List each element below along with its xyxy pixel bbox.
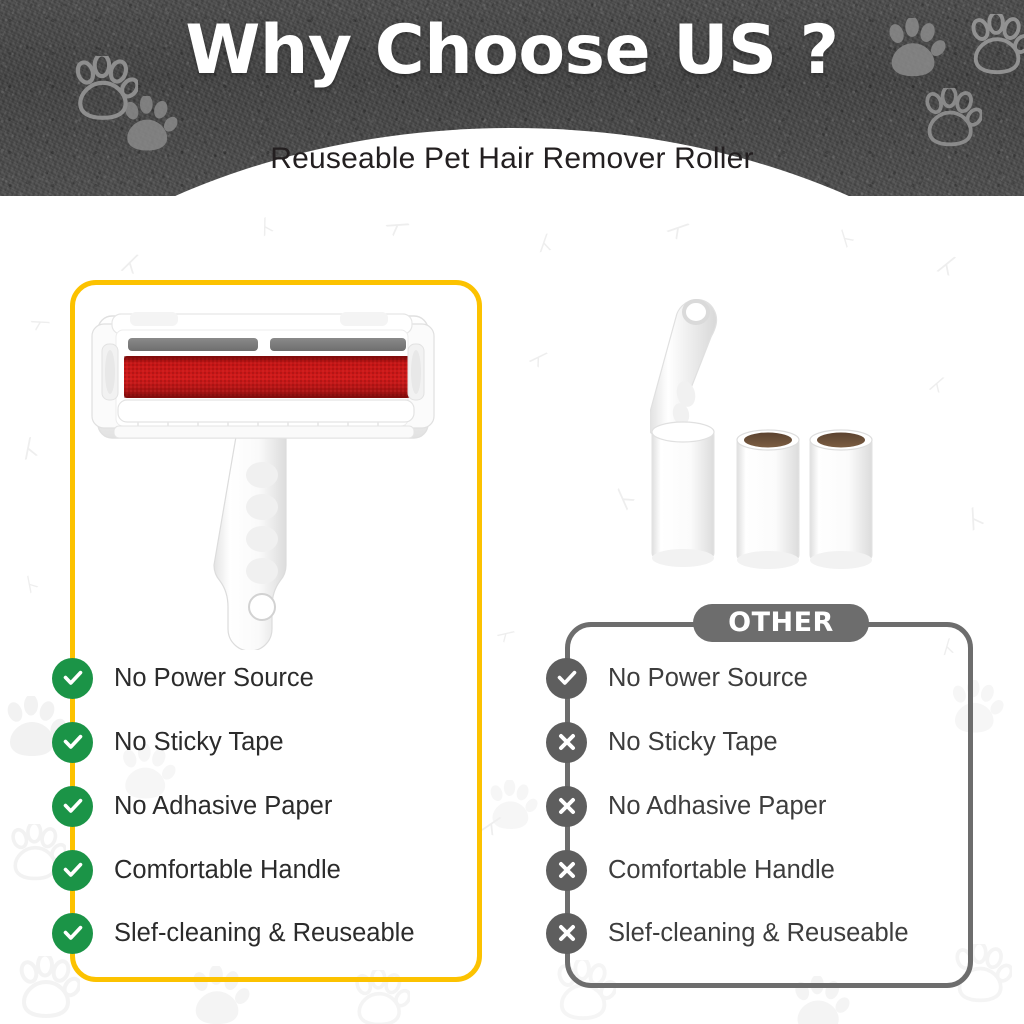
feature-item: No Sticky Tape (546, 720, 778, 764)
check-icon (52, 786, 93, 827)
cross-icon (546, 850, 587, 891)
check-icon (546, 658, 587, 699)
check-icon (52, 658, 93, 699)
feature-item: Comfortable Handle (546, 848, 835, 892)
feature-label: No Power Source (608, 664, 808, 693)
sticky-lint-roller-image (650, 290, 900, 590)
check-icon (52, 913, 93, 954)
swirl-watermark: ⁁ (949, 487, 981, 528)
paw-print-icon (486, 780, 538, 834)
cross-icon (546, 913, 587, 954)
check-icon (52, 850, 93, 891)
paw-print-icon (16, 956, 80, 1022)
swirl-watermark: ⁁ (247, 200, 271, 234)
infographic-page: ⁁ ⁁ ⁁ ⁁ ⁁ ⁁ ⁁ ⁁ ⁁ ⁁ ⁁ ⁁ ⁁ ⁁ ⁁ ⁁ ⁁ (0, 0, 1024, 1024)
swirl-watermark: ⁁ (931, 356, 950, 391)
swirl-watermark: ⁁ (533, 213, 549, 250)
check-icon (52, 722, 93, 763)
pet-hair-remover-roller-image (88, 300, 468, 650)
feature-label: No Sticky Tape (114, 728, 284, 757)
swirl-watermark: ⁁ (500, 612, 529, 640)
feature-label: Slef-cleaning & Reuseable (114, 919, 415, 948)
page-subtitle: Reuseable Pet Hair Remover Roller (0, 142, 1024, 176)
feature-item: No Power Source (546, 656, 808, 700)
feature-label: Comfortable Handle (114, 856, 341, 885)
swirl-watermark: ⁁ (8, 561, 35, 590)
swirl-watermark: ⁁ (670, 198, 705, 237)
feature-label: No Sticky Tape (608, 728, 778, 757)
feature-item: No Sticky Tape (52, 720, 284, 764)
feature-label: No Adhasive Paper (114, 792, 332, 821)
feature-item: Comfortable Handle (52, 848, 341, 892)
page-title: Why Choose US ? (0, 11, 1024, 90)
swirl-watermark: ⁁ (389, 201, 429, 234)
paw-print-icon (922, 88, 982, 150)
swirl-watermark: ⁁ (33, 305, 67, 328)
feature-label: Slef-cleaning & Reuseable (608, 919, 909, 948)
swirl-watermark: ⁁ (939, 229, 963, 272)
swirl-watermark: ⁁ (821, 216, 852, 245)
feature-label: No Power Source (114, 664, 314, 693)
feature-item: No Power Source (52, 656, 314, 700)
feature-label: Comfortable Handle (608, 856, 835, 885)
other-badge: OTHER (693, 604, 869, 642)
feature-item: Slef-cleaning & Reuseable (52, 911, 415, 955)
swirl-watermark: ⁁ (531, 330, 558, 365)
feature-item: No Adhasive Paper (52, 784, 332, 828)
feature-item: No Adhasive Paper (546, 784, 826, 828)
swirl-watermark: ⁁ (11, 413, 35, 456)
swirl-watermark: ⁁ (591, 475, 631, 508)
swirl-watermark: ⁁ (484, 790, 511, 833)
swirl-watermark: ⁁ (123, 227, 143, 270)
feature-item: Slef-cleaning & Reuseable (546, 911, 909, 955)
cross-icon (546, 722, 587, 763)
cross-icon (546, 786, 587, 827)
feature-label: No Adhasive Paper (608, 792, 826, 821)
